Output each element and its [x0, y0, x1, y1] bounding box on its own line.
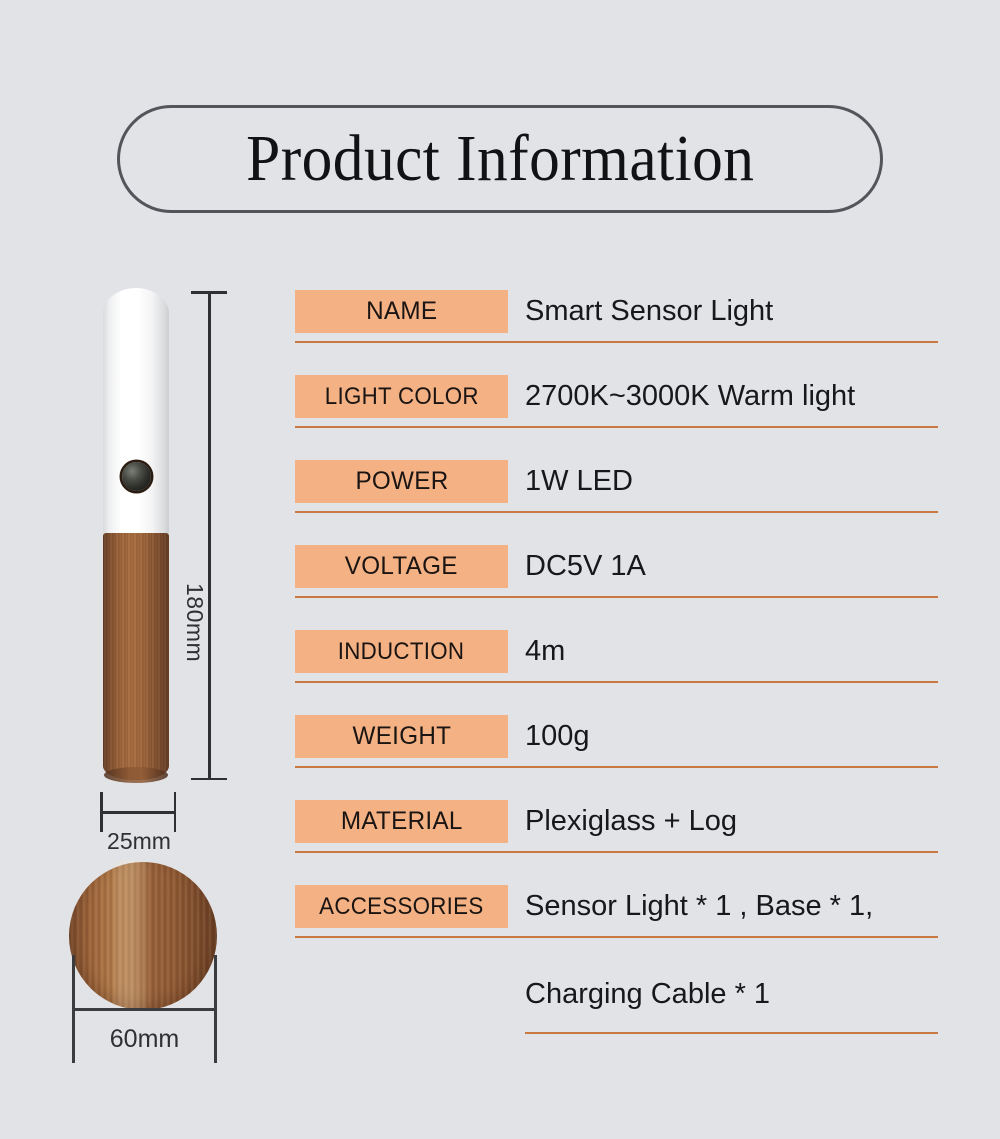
height-dimension-line: [208, 291, 211, 780]
body-width-dimension: 25mm: [100, 792, 176, 852]
spec-label-chip: VOLTAGE: [295, 545, 508, 588]
spec-label: POWER: [355, 467, 448, 496]
spec-row-rule: [295, 426, 938, 428]
product-figure: 180mm 25mm 60mm: [0, 0, 290, 1139]
spec-row-accessories: ACCESSORIES Sensor Light * 1 , Base * 1,…: [295, 885, 940, 1081]
spec-label: VOLTAGE: [345, 552, 458, 581]
spec-label-chip: WEIGHT: [295, 715, 508, 758]
spec-label: WEIGHT: [352, 722, 451, 751]
spec-label-chip: LIGHT COLOR: [295, 375, 508, 418]
base-diameter-dimension-line: [72, 1008, 217, 1011]
lamp-diffuser: [103, 288, 169, 536]
spec-label: ACCESSORIES: [319, 893, 483, 921]
spec-value: 1W LED: [525, 458, 633, 504]
base-diameter-dimension: 60mm: [72, 955, 217, 1075]
height-dimension-bottom-cap: [191, 778, 227, 781]
spec-label: MATERIAL: [341, 807, 463, 836]
spec-row-rule-continued: [525, 1032, 938, 1034]
spec-label-chip: ACCESSORIES: [295, 885, 508, 928]
spec-label-chip: POWER: [295, 460, 508, 503]
spec-row-light-color: LIGHT COLOR 2700K~3000K Warm light: [295, 375, 940, 460]
body-width-dimension-line: [100, 811, 176, 814]
pir-sensor-dome-icon: [122, 462, 151, 491]
height-dimension: 180mm: [186, 291, 232, 780]
spec-row-name: NAME Smart Sensor Light: [295, 290, 940, 375]
spec-row-rule: [295, 681, 938, 683]
lamp-icon: [103, 288, 169, 780]
spec-value: DC5V 1A: [525, 543, 646, 589]
spec-label-chip: INDUCTION: [295, 630, 508, 673]
spec-table: NAME Smart Sensor Light LIGHT COLOR 2700…: [295, 290, 940, 1081]
spec-label: NAME: [366, 297, 437, 326]
spec-label: INDUCTION: [338, 638, 465, 666]
spec-value: 2700K~3000K Warm light: [525, 373, 855, 419]
spec-row-rule: [295, 766, 938, 768]
spec-value: 4m: [525, 628, 565, 674]
spec-label: LIGHT COLOR: [325, 383, 479, 411]
spec-value: Smart Sensor Light: [525, 288, 773, 334]
spec-row-voltage: VOLTAGE DC5V 1A: [295, 545, 940, 630]
spec-value: Plexiglass + Log: [525, 798, 737, 844]
spec-row-weight: WEIGHT 100g: [295, 715, 940, 800]
page-title: Product Information: [246, 126, 754, 192]
spec-value: 100g: [525, 713, 590, 759]
spec-label-chip: MATERIAL: [295, 800, 508, 843]
product-information-page: Product Information 180mm 25mm: [0, 0, 1000, 1139]
spec-row-rule: [295, 936, 938, 938]
spec-row-rule: [295, 596, 938, 598]
spec-row-power: POWER 1W LED: [295, 460, 940, 545]
lamp-bottom-edge: [104, 767, 168, 783]
spec-label-chip: NAME: [295, 290, 508, 333]
base-diameter-dimension-label: 60mm: [72, 1025, 217, 1054]
spec-row-material: MATERIAL Plexiglass + Log: [295, 800, 940, 885]
spec-row-rule: [295, 851, 938, 853]
spec-row-rule: [295, 341, 938, 343]
lamp-wood-body: [103, 533, 169, 780]
spec-row-rule: [295, 511, 938, 513]
body-width-dimension-label: 25mm: [92, 828, 186, 855]
spec-value-continued: Charging Cable * 1: [525, 978, 770, 1011]
spec-value: Sensor Light * 1 , Base * 1,: [525, 883, 873, 929]
body-width-right-cap: [174, 792, 177, 832]
height-dimension-label: 180mm: [181, 583, 208, 662]
spec-row-induction: INDUCTION 4m: [295, 630, 940, 715]
